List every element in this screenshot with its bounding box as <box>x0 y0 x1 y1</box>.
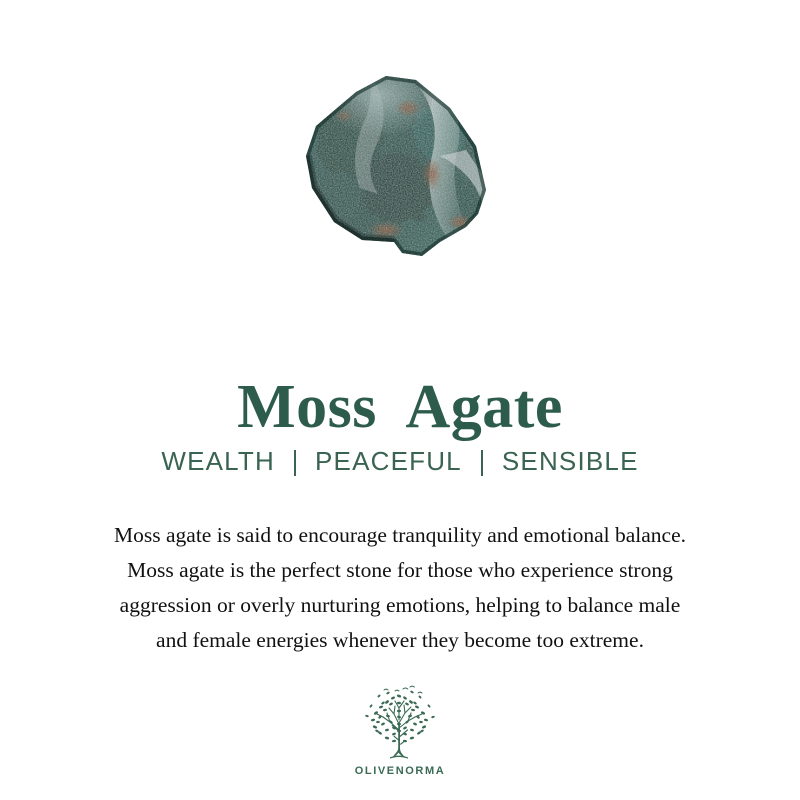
description-paragraph: Moss agate is said to encourage tranquil… <box>40 518 760 658</box>
keyword-peaceful: PEACEFUL <box>315 446 462 477</box>
olive-tree-icon <box>357 684 443 762</box>
moss-agate-stone-image <box>290 70 510 265</box>
product-info-card: Moss Agate WEALTH PEACEFUL SENSIBLE Moss… <box>0 0 800 800</box>
description-line: aggression or overly nurturing emotions,… <box>40 588 760 623</box>
description-line: Moss agate is said to encourage tranquil… <box>40 518 760 553</box>
brand-wordmark: OLIVENORMA <box>355 765 446 777</box>
keyword-list: WEALTH PEACEFUL SENSIBLE <box>0 446 800 477</box>
keyword-wealth: WEALTH <box>161 446 275 477</box>
keyword-separator-icon <box>294 450 296 476</box>
stone-image-container <box>0 70 800 270</box>
description-line: and female energies whenever they become… <box>40 623 760 658</box>
page-title: Moss Agate <box>0 376 800 438</box>
description-line: Moss agate is the perfect stone for thos… <box>40 553 760 588</box>
brand-logo: OLIVENORMA <box>0 684 800 777</box>
keyword-sensible: SENSIBLE <box>502 446 639 477</box>
keyword-separator-icon <box>481 450 483 476</box>
